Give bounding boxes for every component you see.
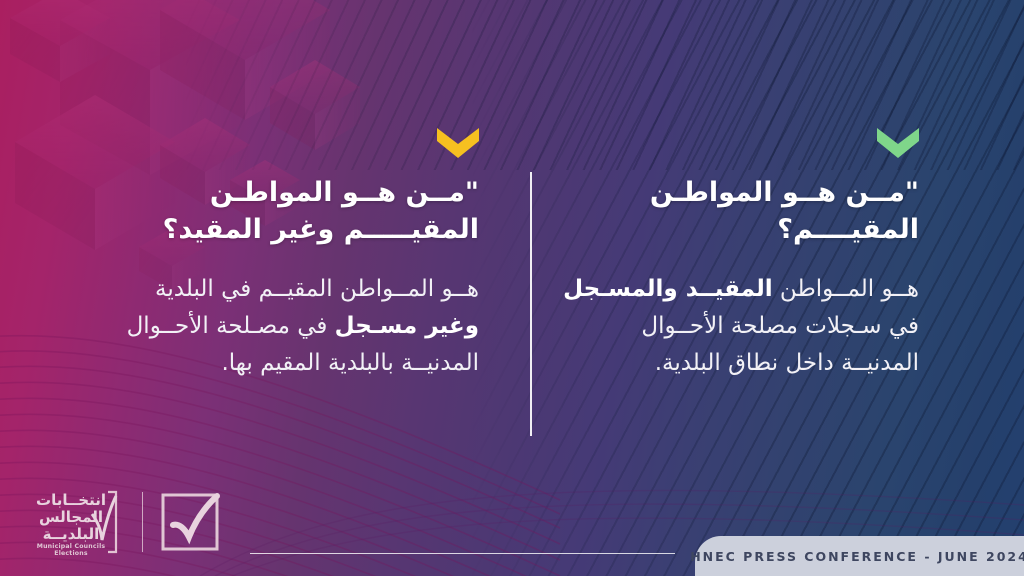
hnec-logo: انتخــابات المجالس البلديــة Municipal C… [30,486,221,558]
footer-label: HNEC PRESS CONFERENCE - JUNE 2024 [690,549,1024,564]
panel-title: "مــن هــو المواطـن المقيــــم؟ [559,174,919,249]
footer-bar: HNEC PRESS CONFERENCE - JUNE 2024 [695,536,1024,576]
panel-non-resident: "مــن هــو المواطـن المقيـــــم وغير الم… [119,128,479,382]
panel-title: "مــن هــو المواطـن المقيـــــم وغير الم… [119,174,479,249]
logo-subtitle: Municipal Councils Elections [30,544,112,558]
logo-line-2: المجالس [30,509,112,526]
panel-divider [530,172,532,436]
panel-body: هــو المــواطن المقيــم في البلدية وغير … [119,271,479,383]
panel-resident: "مــن هــو المواطـن المقيــــم؟ هــو الم… [559,128,919,382]
logo-line-1: انتخــابات [30,492,112,509]
panel-body: هــو المــواطن المقيــد والمسـجل في سـجل… [559,271,919,383]
logo-mark: انتخــابات المجالس البلديــة Municipal C… [30,488,126,556]
logo-divider [142,492,143,552]
ballot-check-icon [159,491,221,553]
presentation-slide: "مــن هــو المواطـن المقيـــــم وغير الم… [0,0,1024,576]
logo-arabic-text: انتخــابات المجالس البلديــة Municipal C… [30,492,112,558]
chevron-down-icon [437,128,479,158]
footer-rule [250,553,675,554]
logo-line-3: البلديــة [30,526,112,543]
chevron-down-icon [877,128,919,158]
